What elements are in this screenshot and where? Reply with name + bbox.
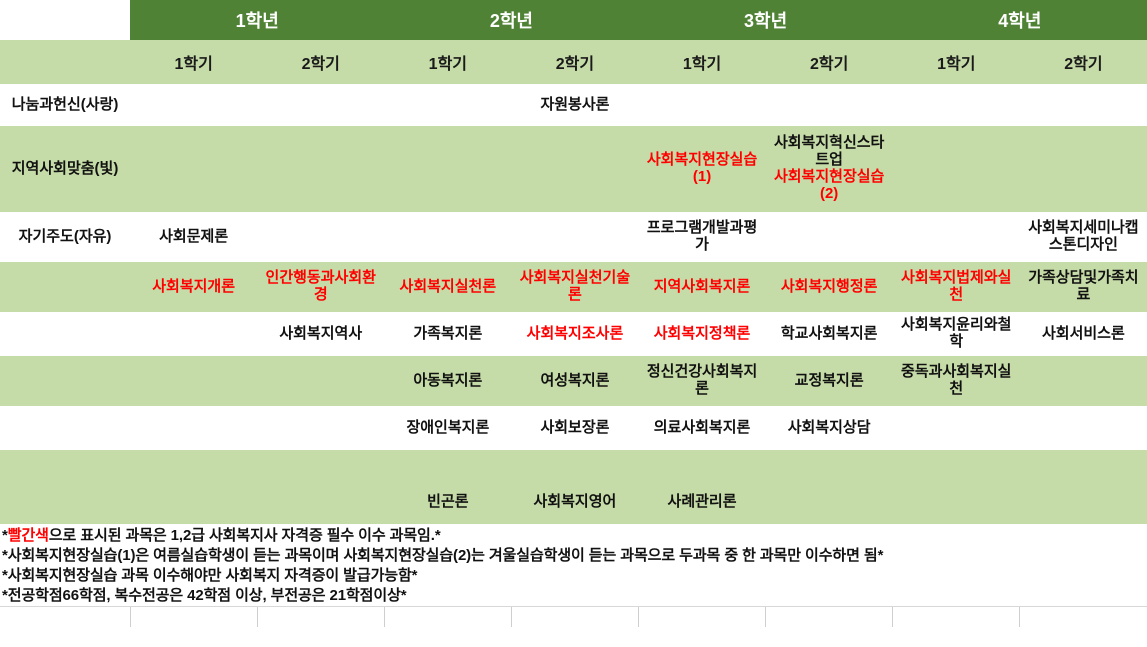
course-name: 사회복지윤리와철학 [895,317,1018,351]
year-header-3: 3학년 [639,0,893,40]
row-label [0,480,130,524]
course-cell: 인간행동과사회환경 [257,262,384,312]
course-name: 사회복지세미나캡스톤디자인 [1022,220,1145,254]
year-header-2: 2학년 [384,0,638,40]
table-row: 아동복지론여성복지론정신건강사회복지론교정복지론중독과사회복지실천 [0,356,1147,406]
course-cell [511,212,638,262]
course-cell: 여성복지론 [511,356,638,406]
footnote-line: *전공학점66학점, 복수전공은 42학점 이상, 부전공은 21학점이상* [2,586,1145,606]
course-name: 사회복지실천기술론 [513,270,636,304]
course-cell: 사회복지정책론 [639,312,766,356]
course-cell: 사회복지법제와실천 [893,262,1020,312]
semester-header-6: 2학기 [766,40,893,84]
course-cell [893,450,1020,480]
course-name: 사회복지역사 [259,326,382,343]
course-cell [893,406,1020,450]
course-name: 여성복지론 [513,373,636,390]
course-cell [1020,126,1147,212]
course-cell: 사회복지역사 [257,312,384,356]
course-cell: 정신건강사회복지론 [639,356,766,406]
course-cell [1020,450,1147,480]
course-cell [257,212,384,262]
course-name: 사회문제론 [132,229,255,246]
course-cell: 사회복지세미나캡스톤디자인 [1020,212,1147,262]
semester-header-1: 1학기 [130,40,257,84]
course-cell: 가족상담및가족치료 [1020,262,1147,312]
table-header: 1학년 2학년 3학년 4학년 1학기 2학기 1학기 2학기 1학기 2학기 … [0,0,1147,84]
table-row: 지역사회맞춤(빛)사회복지현장실습(1)사회복지혁신스타트업사회복지현장실습(2… [0,126,1147,212]
year-header-1: 1학년 [130,0,384,40]
course-cell: 빈곤론 [384,480,511,524]
course-cell [1020,84,1147,126]
year-header-row: 1학년 2학년 3학년 4학년 [0,0,1147,40]
course-cell: 지역사회복지론 [639,262,766,312]
course-name: 빈곤론 [386,494,509,511]
course-name: 사회서비스론 [1022,326,1145,343]
row-label [0,312,130,356]
course-name: 프로그램개발과평가 [641,220,764,254]
semester-header-4: 2학기 [511,40,638,84]
course-name: 사회복지상담 [768,420,891,437]
course-name: 사회복지영어 [513,494,636,511]
curriculum-body: 나눔과헌신(사랑)자원봉사론지역사회맞춤(빛)사회복지현장실습(1)사회복지혁신… [0,84,1147,524]
course-name: 사회보장론 [513,420,636,437]
course-cell: 사회복지영어 [511,480,638,524]
course-cell [1020,356,1147,406]
course-name: 사례관리론 [641,494,764,511]
course-cell: 자원봉사론 [511,84,638,126]
table-row: 사회복지역사가족복지론사회복지조사론사회복지정책론학교사회복지론사회복지윤리와철… [0,312,1147,356]
course-name: 정신건강사회복지론 [641,364,764,398]
row-label [0,406,130,450]
course-name: 의료사회복지론 [641,420,764,437]
row-label [0,450,130,480]
footnote-text: *사회복지현장실습 과목 이수해야만 사회복지 자격증이 발급가능함* [2,567,417,584]
course-cell: 교정복지론 [766,356,893,406]
course-cell: 사회복지행정론 [766,262,893,312]
semester-corner-blank [0,40,130,84]
course-name: 사회복지개론 [132,279,255,296]
course-cell: 의료사회복지론 [639,406,766,450]
course-cell [1020,480,1147,524]
course-name: 장애인복지론 [386,420,509,437]
course-name: 가족상담및가족치료 [1022,270,1145,304]
course-cell [130,480,257,524]
table-row: 사회복지개론인간행동과사회환경사회복지실천론사회복지실천기술론지역사회복지론사회… [0,262,1147,312]
course-name: 사회복지실천론 [386,279,509,296]
course-cell [257,406,384,450]
course-name: 사회복지혁신스타트업 [768,135,891,169]
course-name: 학교사회복지론 [768,326,891,343]
course-cell [766,212,893,262]
table-row [0,450,1147,480]
row-label: 지역사회맞춤(빛) [0,126,130,212]
course-name: 사회복지행정론 [768,279,891,296]
course-cell: 사회복지개론 [130,262,257,312]
course-cell [384,126,511,212]
semester-header-5: 1학기 [639,40,766,84]
course-name: 인간행동과사회환경 [259,270,382,304]
course-cell: 사회보장론 [511,406,638,450]
footnote-text: *사회복지현장실습(1)은 여름실습학생이 듣는 과목이며 사회복지현장실습(2… [2,547,883,564]
course-name: 가족복지론 [386,326,509,343]
course-name: 사회복지정책론 [641,326,764,343]
header-corner-blank [0,0,130,40]
course-cell [257,480,384,524]
course-cell [1020,406,1147,450]
course-cell: 사례관리론 [639,480,766,524]
course-cell [766,84,893,126]
table-row: 자기주도(자유)사회문제론프로그램개발과평가사회복지세미나캡스톤디자인 [0,212,1147,262]
course-name: 아동복지론 [386,373,509,390]
course-cell: 사회복지실천기술론 [511,262,638,312]
semester-header-3: 1학기 [384,40,511,84]
table-row: 장애인복지론사회보장론의료사회복지론사회복지상담 [0,406,1147,450]
semester-header-7: 1학기 [893,40,1020,84]
course-cell [766,480,893,524]
curriculum-table: 1학년 2학년 3학년 4학년 1학기 2학기 1학기 2학기 1학기 2학기 … [0,0,1147,524]
course-name: 사회복지법제와실천 [895,270,1018,304]
course-cell: 학교사회복지론 [766,312,893,356]
table-row: 나눔과헌신(사랑)자원봉사론 [0,84,1147,126]
course-name: 사회복지조사론 [513,326,636,343]
course-cell: 사회복지혁신스타트업사회복지현장실습(2) [766,126,893,212]
course-cell [130,406,257,450]
course-cell [384,84,511,126]
course-cell [257,84,384,126]
row-label [0,356,130,406]
course-cell [130,356,257,406]
course-cell [893,84,1020,126]
course-name: 사회복지현장실습(1) [641,152,764,186]
course-cell [257,450,384,480]
course-cell: 장애인복지론 [384,406,511,450]
course-cell: 사회복지윤리와철학 [893,312,1020,356]
course-cell [893,480,1020,524]
course-cell [766,450,893,480]
course-cell [130,126,257,212]
course-cell [257,126,384,212]
empty-grid-region [0,606,1147,647]
semester-header-row: 1학기 2학기 1학기 2학기 1학기 2학기 1학기 2학기 [0,40,1147,84]
course-cell [893,126,1020,212]
semester-header-2: 2학기 [257,40,384,84]
course-cell [130,312,257,356]
footnotes: *빨간색으로 표시된 과목은 1,2급 사회복지사 자격증 필수 이수 과목임.… [0,524,1147,606]
course-cell: 사회복지현장실습(1) [639,126,766,212]
course-cell [639,450,766,480]
course-name: 중독과사회복지실천 [895,364,1018,398]
course-cell: 가족복지론 [384,312,511,356]
curriculum-sheet: 1학년 2학년 3학년 4학년 1학기 2학기 1학기 2학기 1학기 2학기 … [0,0,1147,619]
table-row: 빈곤론사회복지영어사례관리론 [0,480,1147,524]
course-cell [511,450,638,480]
course-cell: 중독과사회복지실천 [893,356,1020,406]
course-cell: 사회서비스론 [1020,312,1147,356]
course-cell [130,84,257,126]
footnote-text: *전공학점66학점, 복수전공은 42학점 이상, 부전공은 21학점이상* [2,587,407,604]
footnote-text: 으로 표시된 과목은 1,2급 사회복지사 자격증 필수 이수 과목임.* [49,527,441,544]
course-cell [384,212,511,262]
course-cell [257,356,384,406]
course-cell [639,84,766,126]
course-cell [511,126,638,212]
course-cell: 프로그램개발과평가 [639,212,766,262]
course-name: 교정복지론 [768,373,891,390]
course-name: 지역사회복지론 [641,279,764,296]
course-cell: 사회복지실천론 [384,262,511,312]
course-cell [384,450,511,480]
semester-header-8: 2학기 [1020,40,1147,84]
year-header-4: 4학년 [893,0,1147,40]
course-cell: 사회문제론 [130,212,257,262]
row-label: 자기주도(자유) [0,212,130,262]
row-label [0,262,130,312]
course-cell [893,212,1020,262]
footnote-text: 빨간색 [8,527,49,544]
course-name: 사회복지현장실습(2) [768,169,891,203]
course-cell: 사회복지조사론 [511,312,638,356]
footnote-line: *사회복지현장실습(1)은 여름실습학생이 듣는 과목이며 사회복지현장실습(2… [2,546,1145,566]
course-cell: 사회복지상담 [766,406,893,450]
course-name: 자원봉사론 [513,97,636,114]
footnote-line: *빨간색으로 표시된 과목은 1,2급 사회복지사 자격증 필수 이수 과목임.… [2,526,1145,546]
row-label: 나눔과헌신(사랑) [0,84,130,126]
course-cell [130,450,257,480]
footnote-line: *사회복지현장실습 과목 이수해야만 사회복지 자격증이 발급가능함* [2,566,1145,586]
course-cell: 아동복지론 [384,356,511,406]
